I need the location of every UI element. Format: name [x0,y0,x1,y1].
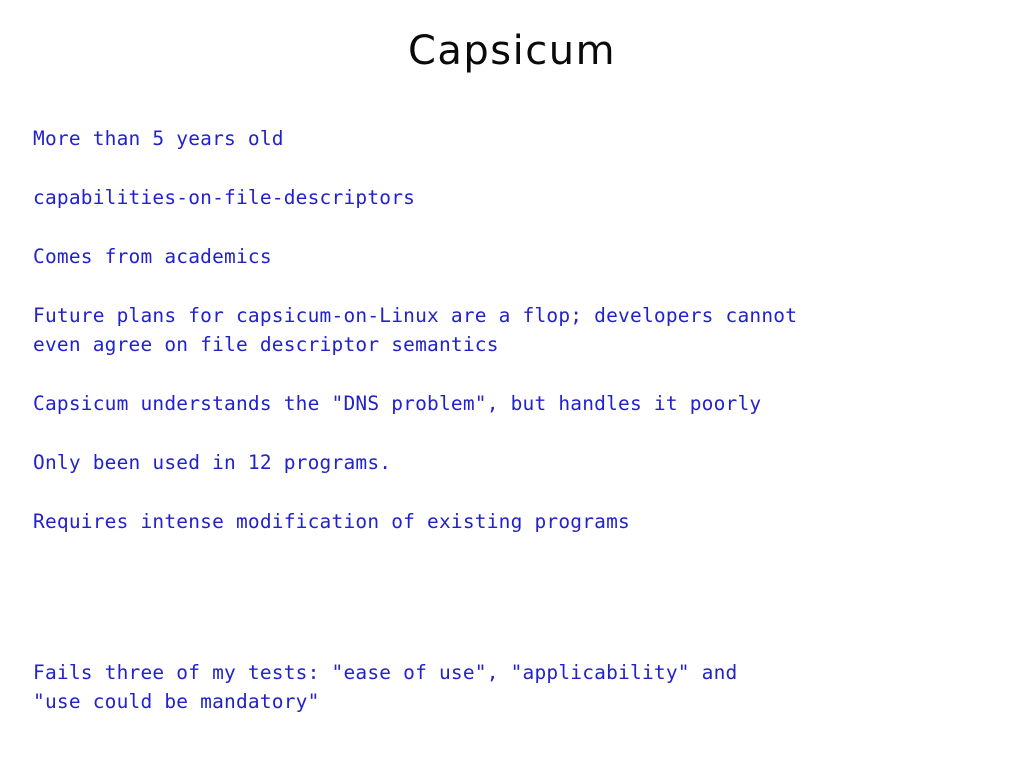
bullet-line: Comes from academics [33,242,983,271]
bullet-line: More than 5 years old [33,124,983,153]
bullet-line: Capsicum understands the "DNS problem", … [33,389,983,418]
bullet-line: Only been used in 12 programs. [33,448,983,477]
page-title: Capsicum [0,28,1024,74]
presentation-slide: Capsicum More than 5 years old capabilit… [0,0,1024,768]
bullet-line: Future plans for capsicum-on-Linux are a… [33,301,983,359]
bullet-line: Fails three of my tests: "ease of use", … [33,658,983,716]
bullet-line: Requires intense modification of existin… [33,507,983,536]
bullet-line: capabilities-on-file-descriptors [33,183,983,212]
slide-body: More than 5 years old capabilities-on-fi… [33,124,983,716]
